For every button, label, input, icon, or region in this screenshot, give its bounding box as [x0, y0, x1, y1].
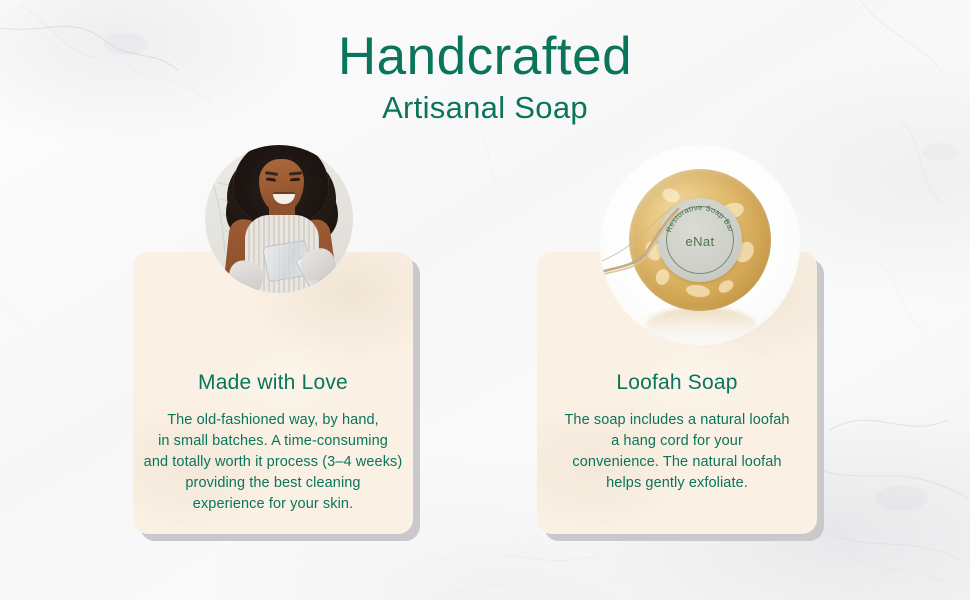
hang-cord [602, 205, 682, 281]
card-body-made-with-love: The old-fashioned way, by hand, in small… [143, 410, 403, 515]
card-heading-loofah-soap: Loofah Soap [537, 370, 817, 396]
banner-headings: Handcrafted Artisanal Soap [0, 28, 970, 128]
photo-woman-pouring-soap [205, 145, 353, 293]
card-body-loofah-soap: The soap includes a natural loofah a han… [547, 410, 807, 494]
page-title: Handcrafted [0, 28, 970, 86]
soap-reflection [646, 307, 756, 343]
page-subtitle: Artisanal Soap [0, 88, 970, 128]
product-banner: Handcrafted Artisanal Soap Made with Lov… [0, 0, 970, 600]
photo-loofah-soap-bar: Restorative Soap Bar eNat [600, 145, 800, 345]
feature-card-made-with-love: Made with Love The old-fashioned way, by… [133, 252, 413, 534]
card-heading-made-with-love: Made with Love [133, 370, 413, 396]
